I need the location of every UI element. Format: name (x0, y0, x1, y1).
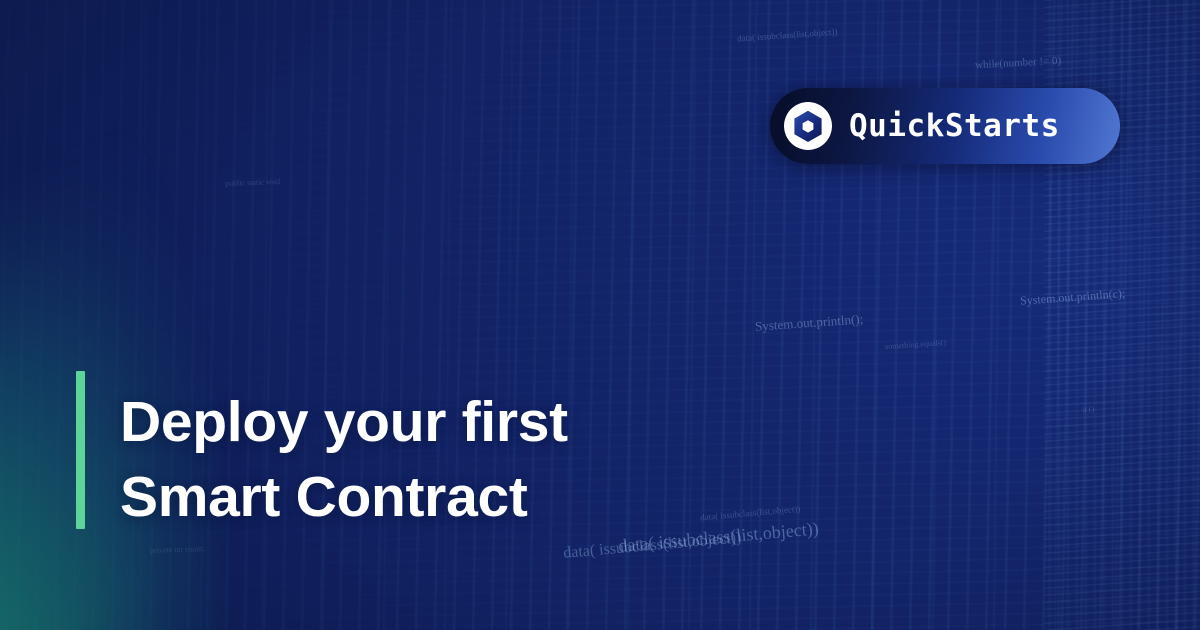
page-title-line-2: Smart Contract (120, 460, 740, 535)
page-title-line-1: Deploy your first (120, 385, 740, 460)
quickstarts-badge-label: QuickStarts (849, 108, 1060, 144)
headline-accent-bar (76, 371, 85, 529)
chainlink-hexagon-logo-icon (784, 102, 832, 150)
quickstarts-badge[interactable]: QuickStarts (770, 88, 1120, 164)
page-title: Deploy your first Smart Contract (120, 385, 740, 535)
quickstarts-banner: while(number != 0)data( issubclass(list,… (0, 0, 1200, 630)
